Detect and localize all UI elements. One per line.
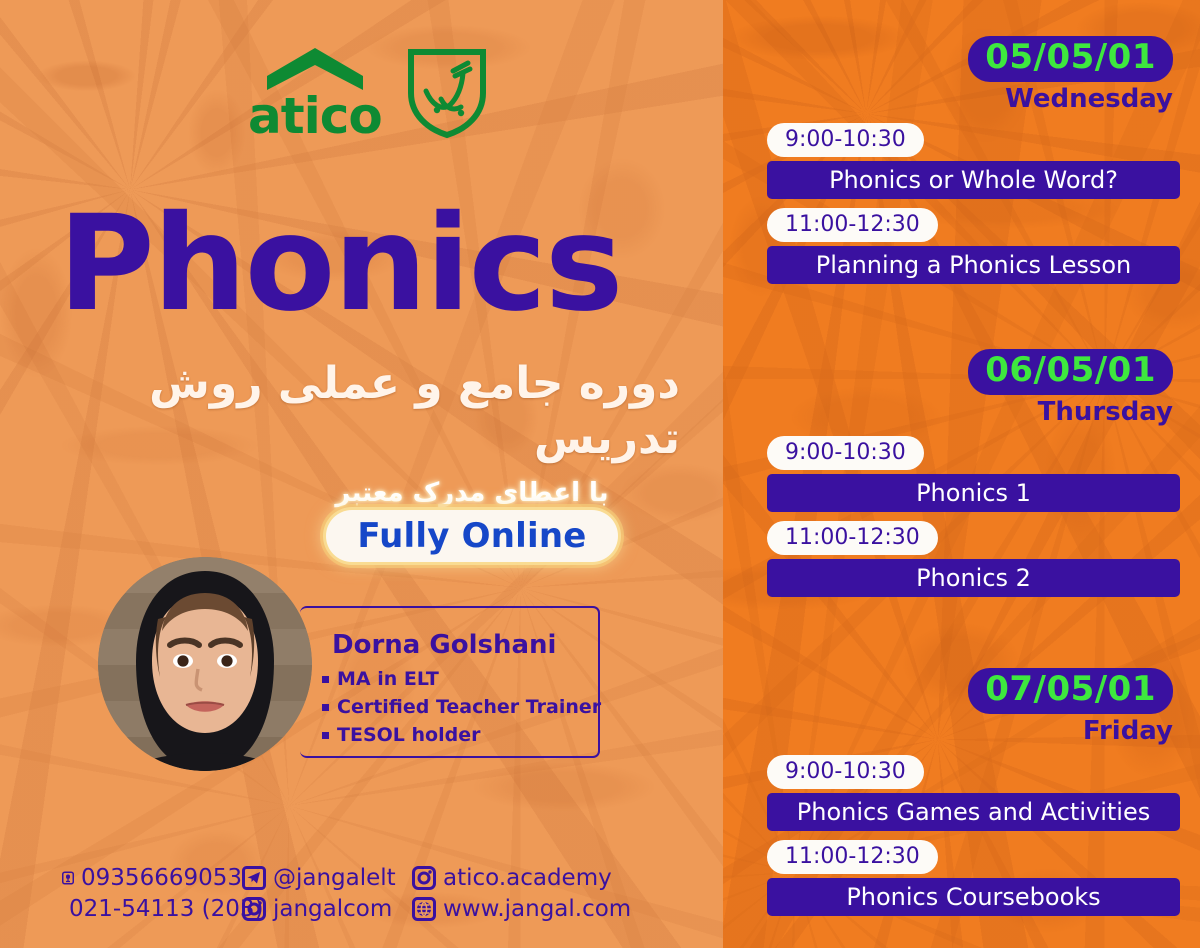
session-time: 9:00-10:30 [767, 436, 924, 470]
atico-wordmark: atico [248, 94, 382, 139]
contact-row: 021-54113 (203) jangalcom [62, 893, 631, 924]
day-header: 05/05/01 Wednesday [723, 36, 1200, 114]
contact-telephone[interactable]: 021-54113 (203) [62, 896, 242, 922]
atico-logo: atico [248, 46, 382, 139]
contact-text: 09356669053 [81, 865, 242, 891]
jangal-shield-logo [406, 47, 488, 139]
contact-info: 09356669053 @jangalelt atico.academy [62, 862, 631, 924]
bullet-square-icon [322, 704, 329, 711]
fully-online-pill: Fully Online [326, 510, 618, 562]
instagram-icon [412, 865, 436, 891]
contact-text: atico.academy [443, 865, 612, 891]
avatar-portrait-icon [98, 557, 312, 771]
date-badge: 05/05/01 [968, 36, 1173, 82]
session-slot: 11:00-12:30 Phonics Coursebooks [723, 840, 1200, 916]
day-header: 06/05/01 Thursday [723, 349, 1200, 427]
bullet-square-icon [322, 732, 329, 739]
schedule-day-friday: 07/05/01 Friday 9:00-10:30 Phonics Games… [723, 668, 1200, 916]
day-header: 07/05/01 Friday [723, 668, 1200, 746]
instagram-icon [242, 896, 266, 922]
session-topic[interactable]: Phonics Games and Activities [767, 793, 1180, 831]
mobile-phone-icon [62, 865, 74, 891]
contact-instagram-jangal[interactable]: jangalcom [242, 896, 412, 922]
session-topic[interactable]: Phonics 2 [767, 559, 1180, 597]
contact-website[interactable]: www.jangal.com [412, 896, 631, 922]
credential-item: TESOL holder [322, 722, 601, 750]
contact-row: 09356669053 @jangalelt atico.academy [62, 862, 631, 893]
instructor-avatar [98, 557, 312, 771]
telegram-icon [242, 865, 266, 891]
schedule-day-wednesday: 05/05/01 Wednesday 9:00-10:30 Phonics or… [723, 36, 1200, 284]
contact-instagram-atico[interactable]: atico.academy [412, 865, 612, 891]
page-title: Phonics [58, 198, 621, 330]
fully-online-label: Fully Online [357, 516, 586, 556]
session-topic[interactable]: Phonics or Whole Word? [767, 161, 1180, 199]
brand-logos: atico [248, 46, 488, 139]
session-slot: 9:00-10:30 Phonics or Whole Word? [723, 123, 1200, 199]
session-topic[interactable]: Phonics 1 [767, 474, 1180, 512]
shield-icon [406, 47, 488, 139]
contact-mobile[interactable]: 09356669053 [62, 865, 242, 891]
credential-label: Certified Teacher Trainer [337, 694, 601, 722]
session-time: 11:00-12:30 [767, 521, 938, 555]
credential-item: Certified Teacher Trainer [322, 694, 601, 722]
instructor-name: Dorna Golshani [332, 630, 556, 660]
contact-text: www.jangal.com [443, 896, 631, 922]
session-topic[interactable]: Planning a Phonics Lesson [767, 246, 1180, 284]
credential-label: TESOL holder [337, 722, 480, 750]
weekday-label: Wednesday [723, 84, 1173, 114]
session-time: 11:00-12:30 [767, 208, 938, 242]
instructor-credentials: MA in ELT Certified Teacher Trainer TESO… [322, 666, 601, 750]
poster-canvas: atico Phonics دوره جامع و عملی روش تدریس… [0, 0, 1200, 948]
session-topic[interactable]: Phonics Coursebooks [767, 878, 1180, 916]
bullet-square-icon [322, 676, 329, 683]
session-time: 9:00-10:30 [767, 123, 924, 157]
date-badge: 07/05/01 [968, 668, 1173, 714]
session-time: 11:00-12:30 [767, 840, 938, 874]
subtitle-persian: دوره جامع و عملی روش تدریس [40, 356, 680, 466]
fully-online-badge: با اعطای مدرک معتبر Fully Online [322, 478, 622, 562]
session-slot: 11:00-12:30 Phonics 2 [723, 521, 1200, 597]
contact-text: @jangalelt [273, 865, 396, 891]
schedule-day-thursday: 06/05/01 Thursday 9:00-10:30 Phonics 1 1… [723, 349, 1200, 597]
certificate-caption-persian: با اعطای مدرک معتبر [322, 478, 622, 508]
session-slot: 11:00-12:30 Planning a Phonics Lesson [723, 208, 1200, 284]
credential-label: MA in ELT [337, 666, 439, 694]
session-slot: 9:00-10:30 Phonics Games and Activities [723, 755, 1200, 831]
contact-telegram[interactable]: @jangalelt [242, 865, 412, 891]
credential-item: MA in ELT [322, 666, 601, 694]
session-time: 9:00-10:30 [767, 755, 924, 789]
session-slot: 9:00-10:30 Phonics 1 [723, 436, 1200, 512]
schedule-panel: 05/05/01 Wednesday 9:00-10:30 Phonics or… [723, 0, 1200, 948]
date-badge: 06/05/01 [968, 349, 1173, 395]
contact-text: jangalcom [273, 896, 392, 922]
weekday-label: Thursday [723, 397, 1173, 427]
contact-text: 021-54113 (203) [69, 896, 264, 922]
globe-icon [412, 896, 436, 922]
weekday-label: Friday [723, 716, 1173, 746]
chevron-roof-icon [263, 46, 367, 92]
